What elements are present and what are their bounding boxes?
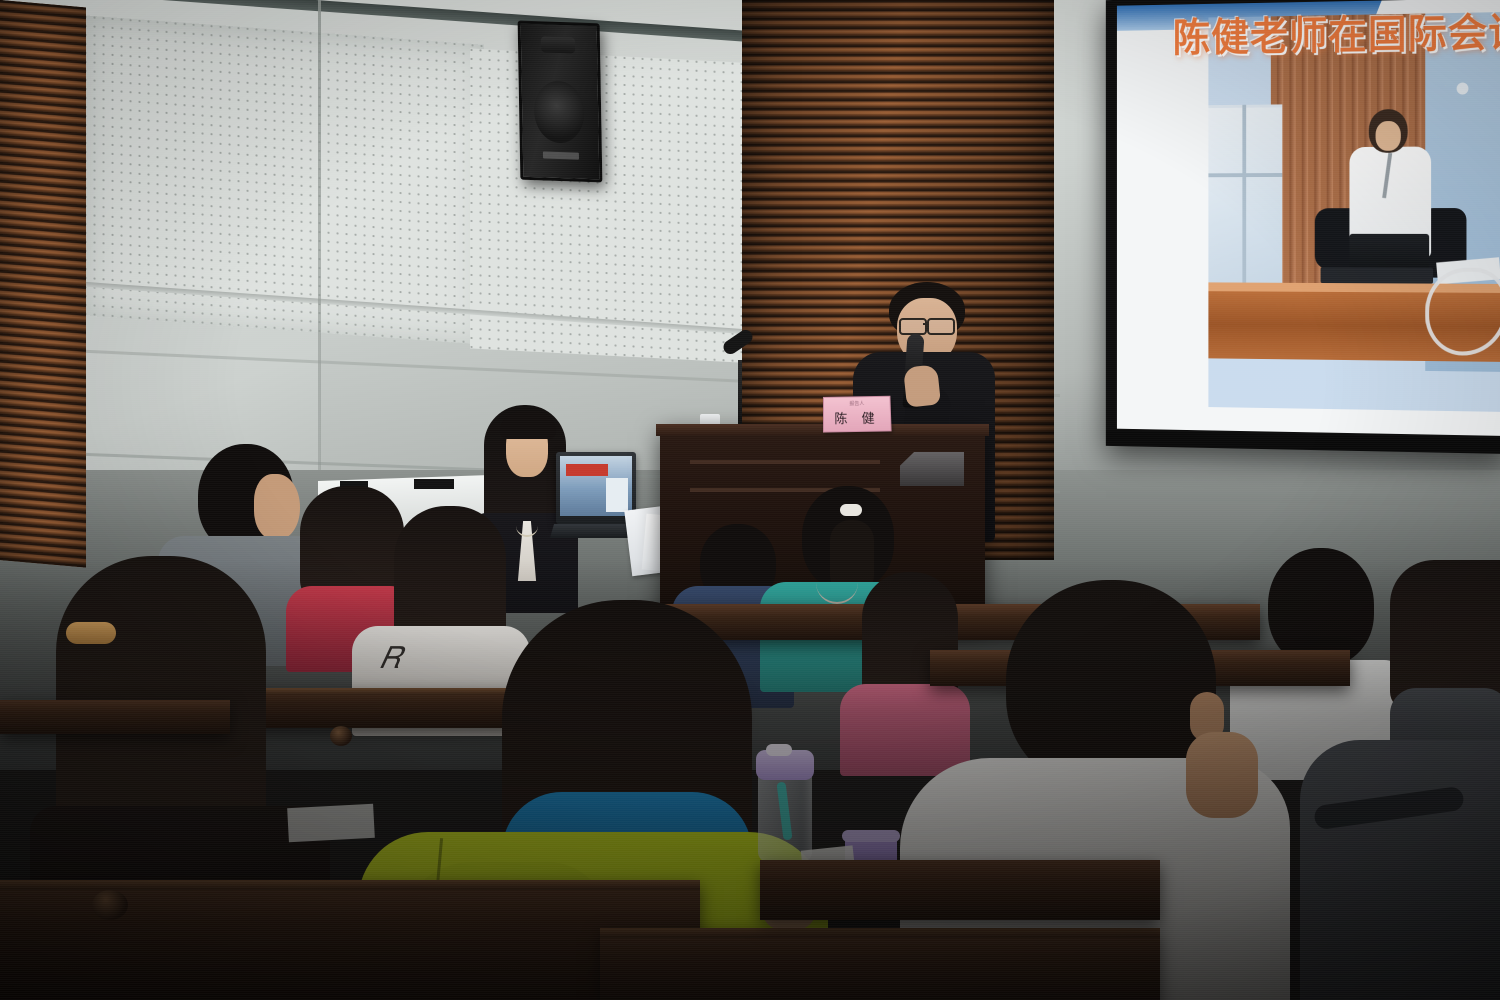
speaker-brand-label <box>543 151 579 159</box>
glasses-bridge <box>923 323 929 325</box>
wood-slat-panel-left <box>0 0 86 568</box>
control-monitor-screen <box>560 456 632 516</box>
bench-front-right-edge <box>600 928 1160 938</box>
bench-knob-front-left <box>92 890 128 920</box>
bench-front-edge <box>0 880 700 890</box>
slide-photo-laptop-base <box>1321 267 1433 283</box>
projection-screen: 陈健老师在国际会议上报告 <box>1106 0 1500 454</box>
note-paper-left <box>287 804 375 842</box>
av-cabinet-slot-2 <box>414 479 454 489</box>
bench-row-left-mid <box>0 700 230 734</box>
slide-photo-cables <box>1425 268 1500 356</box>
slide-photo-person-face <box>1376 121 1401 151</box>
bench-row-desk-center <box>760 860 1160 920</box>
water-bottle-spout <box>766 744 792 756</box>
monitor-slide-white-block <box>606 478 628 512</box>
slide-photo-light-spot <box>1457 82 1469 94</box>
glasses-lens-right <box>927 318 955 335</box>
bench-row-front-right <box>600 928 1160 1000</box>
bench-knob <box>330 726 352 746</box>
microphone-stand-pole <box>738 360 742 432</box>
torso <box>1300 740 1500 1000</box>
lecture-hall-photo: 陈健老师在国际会议上报告 <box>0 0 1500 1000</box>
assistant-bangs <box>500 411 556 439</box>
purple-cup-rim <box>842 830 900 842</box>
name-card-name-text: 陈 健 <box>824 408 890 428</box>
projection-screen-surface: 陈健老师在国际会议上报告 <box>1117 0 1500 436</box>
hair-tie-icon <box>840 504 862 516</box>
podium-emblem <box>900 452 964 486</box>
hair-tie-icon <box>66 622 116 644</box>
glasses-icon <box>899 318 927 335</box>
slide-title-text: 陈健老师在国际会议上报告 <box>1173 0 1500 63</box>
hand-on-chin <box>1186 732 1258 818</box>
audience-student-dark-gray-right <box>1300 700 1500 1000</box>
monitor-slide-red-block <box>566 464 608 476</box>
slide-photo <box>1208 12 1500 412</box>
speaker-tweeter <box>541 36 575 53</box>
name-card-role-text: 报告人 <box>824 400 890 408</box>
podium-panel-groove <box>690 460 880 464</box>
name-card: 报告人 陈 健 <box>823 396 892 433</box>
wall-speaker-icon <box>518 21 603 183</box>
presenter-hand <box>903 364 941 407</box>
speaker-woofer <box>534 80 585 144</box>
